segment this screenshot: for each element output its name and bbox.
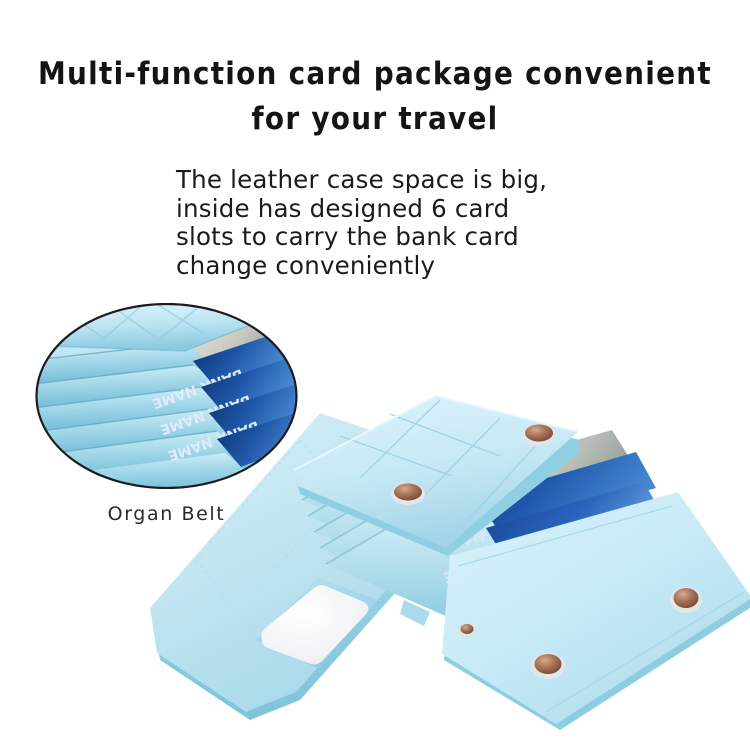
snap-button: [531, 653, 565, 679]
snap-button: [522, 424, 556, 446]
snap-button: [458, 623, 476, 637]
callout-caption: Organ Belt: [35, 503, 298, 525]
product-marketing-image: Multi-function card package convenient f…: [0, 0, 750, 749]
snap-button: [391, 483, 425, 505]
snap-button: [670, 587, 702, 613]
callout-detail: BANK NAME BANK NAME BANK NAME: [35, 303, 298, 489]
